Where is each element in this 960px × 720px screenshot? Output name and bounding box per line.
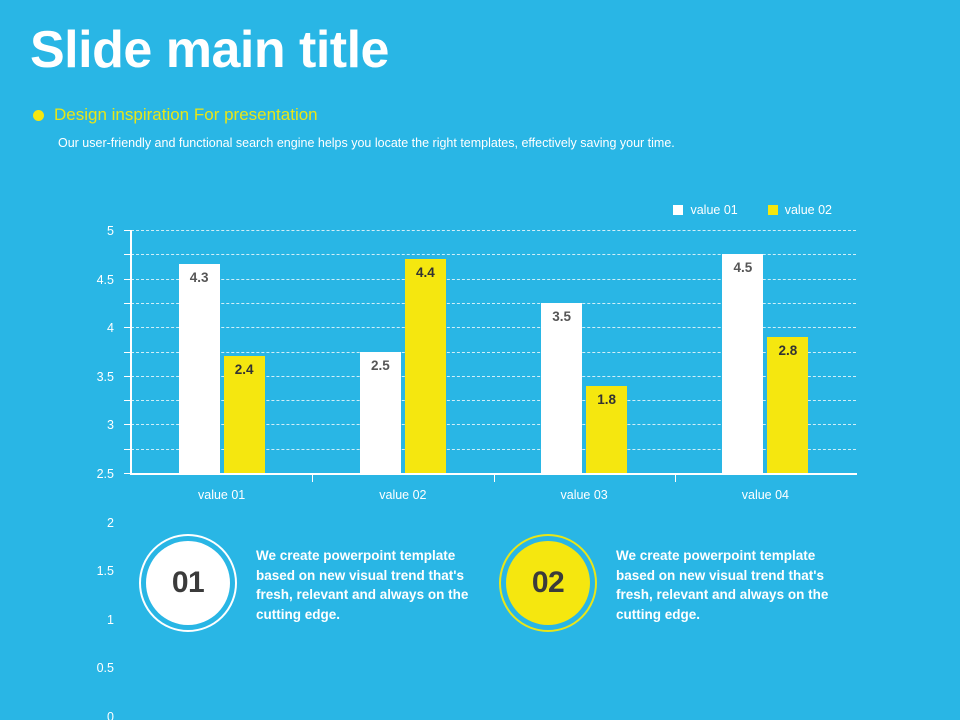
bar-value-label: 4.5 — [722, 260, 763, 275]
feature-text-02: We create powerpoint template based on n… — [616, 546, 831, 624]
x-category-label: value 02 — [379, 488, 426, 502]
y-tick-label: 3.5 — [97, 370, 114, 384]
x-axis-separator — [312, 473, 313, 482]
bar-value-label: 4.4 — [405, 265, 446, 280]
bar-value-01-value-01[interactable]: 4.3 — [179, 264, 220, 473]
y-tick-label: 4 — [107, 321, 114, 335]
y-tick-mark: 0.5 — [124, 449, 131, 450]
bar-chart: value 01 value 02 54.543.532.521.510.50 … — [0, 196, 960, 516]
feature-badge-01[interactable]: 01 — [139, 534, 237, 632]
y-tick-mark: 1 — [124, 424, 131, 425]
circle-disc: 01 — [146, 541, 230, 625]
y-tick-mark: 2 — [124, 376, 131, 377]
subtitle-text: Design inspiration For presentation — [54, 105, 318, 125]
y-tick-label: 0 — [107, 710, 114, 720]
bar-value-label: 3.5 — [541, 309, 582, 324]
legend-label-series-2: value 02 — [785, 203, 832, 217]
y-tick-mark: 5 — [124, 230, 131, 231]
x-category-label: value 03 — [560, 488, 607, 502]
y-tick-label: 0.5 — [97, 661, 114, 675]
bar-value-01-value-04[interactable]: 4.5 — [722, 254, 763, 473]
legend-item-series-1[interactable]: value 01 — [673, 203, 737, 217]
x-axis-separator — [675, 473, 676, 482]
chart-plot-area: 54.543.532.521.510.50 4.32.42.54.43.51.8… — [131, 230, 856, 473]
y-tick-label: 4.5 — [97, 273, 114, 287]
legend-item-series-2[interactable]: value 02 — [768, 203, 832, 217]
feature-list: 01 We create powerpoint template based o… — [0, 532, 960, 652]
feature-number-02: 02 — [532, 566, 564, 600]
y-tick-mark: 2.5 — [124, 352, 131, 353]
circle-disc: 02 — [506, 541, 590, 625]
feature-text-01: We create powerpoint template based on n… — [256, 546, 471, 624]
y-tick-mark: 1.5 — [124, 400, 131, 401]
slide-canvas: Slide main title Design inspiration For … — [0, 0, 960, 720]
legend-label-series-1: value 01 — [690, 203, 737, 217]
bar-value-02-value-03[interactable]: 1.8 — [586, 386, 627, 473]
bar-value-02-value-01[interactable]: 2.4 — [224, 356, 265, 473]
x-category-label: value 01 — [198, 488, 245, 502]
bar-value-label: 4.3 — [179, 270, 220, 285]
feature-item-02: 02 We create powerpoint template based o… — [499, 532, 831, 632]
bar-value-02-value-04[interactable]: 2.8 — [767, 337, 808, 473]
bullet-dot-icon — [33, 110, 44, 121]
x-category-label: value 04 — [742, 488, 789, 502]
feature-badge-02[interactable]: 02 — [499, 534, 597, 632]
y-tick-mark: 0 — [124, 473, 131, 474]
feature-item-01: 01 We create powerpoint template based o… — [139, 532, 471, 632]
legend-swatch-series-2 — [768, 205, 778, 215]
chart-legend: value 01 value 02 — [673, 203, 832, 217]
bar-value-label: 2.8 — [767, 343, 808, 358]
y-tick-label: 3 — [107, 418, 114, 432]
description-text: Our user-friendly and functional search … — [58, 136, 675, 150]
y-tick-mark: 3.5 — [124, 303, 131, 304]
bar-value-label: 2.4 — [224, 362, 265, 377]
bar-value-02-value-02[interactable]: 4.4 — [405, 259, 446, 473]
y-tick-mark: 3 — [124, 327, 131, 328]
bar-value-label: 2.5 — [360, 358, 401, 373]
y-tick-label: 2.5 — [97, 467, 114, 481]
y-tick-label: 2 — [107, 516, 114, 530]
page-title: Slide main title — [30, 24, 389, 76]
gridline — [131, 230, 856, 231]
y-tick-mark: 4.5 — [124, 254, 131, 255]
x-axis-separator — [494, 473, 495, 482]
bar-value-01-value-02[interactable]: 2.5 — [360, 352, 401, 474]
y-tick-label: 5 — [107, 224, 114, 238]
subtitle-row: Design inspiration For presentation — [33, 105, 318, 125]
y-tick-mark: 4 — [124, 279, 131, 280]
bar-value-01-value-03[interactable]: 3.5 — [541, 303, 582, 473]
feature-number-01: 01 — [172, 566, 204, 600]
legend-swatch-series-1 — [673, 205, 683, 215]
bar-value-label: 1.8 — [586, 392, 627, 407]
